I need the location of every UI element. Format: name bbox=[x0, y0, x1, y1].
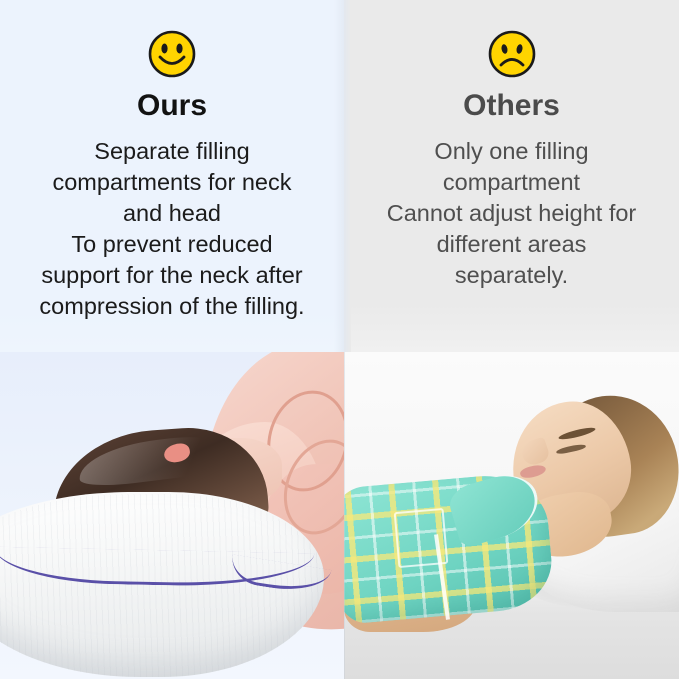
others-text-panel: Others Only one filling compartment Cann… bbox=[344, 0, 679, 352]
ours-text-panel: Ours Separate filling compartments for n… bbox=[0, 0, 344, 352]
ours-heading: Ours bbox=[0, 90, 344, 122]
others-description: Only one filling compartment Cannot adju… bbox=[344, 136, 679, 291]
ours-photo bbox=[0, 352, 344, 679]
ours-description: Separate filling compartments for neck a… bbox=[0, 136, 344, 322]
photo-strip bbox=[0, 352, 679, 679]
smiley-happy-face-icon bbox=[0, 28, 344, 80]
others-photo bbox=[344, 352, 679, 679]
comparison-infographic: Ours Separate filling compartments for n… bbox=[0, 0, 679, 679]
photo-divider bbox=[344, 352, 345, 679]
others-heading: Others bbox=[344, 90, 679, 122]
smiley-sad-face-icon bbox=[344, 28, 679, 80]
